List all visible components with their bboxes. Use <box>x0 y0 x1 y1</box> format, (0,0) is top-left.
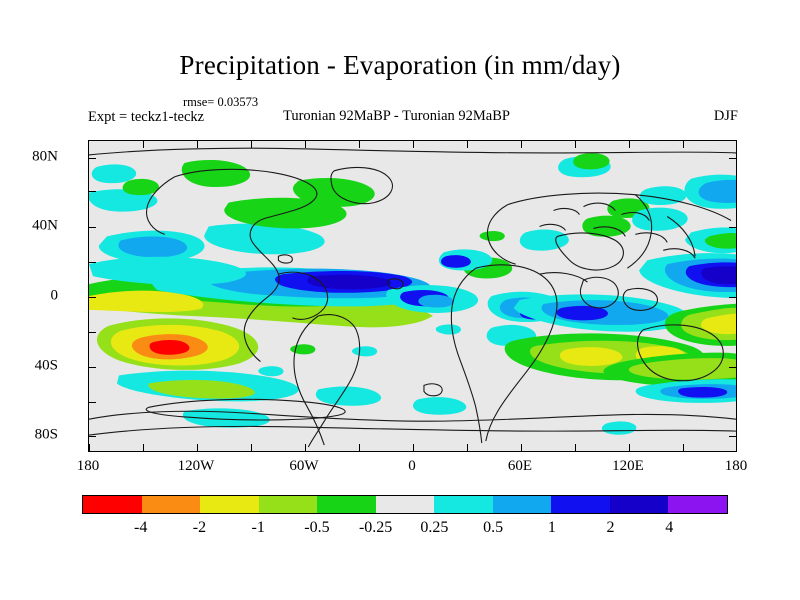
y-axis-label-80s: 80S <box>0 427 58 444</box>
axis-tick-bottom <box>521 444 522 451</box>
x-axis-label-0: 0 <box>372 458 452 475</box>
axis-tick-left <box>89 191 96 192</box>
y-axis-label-0: 0 <box>0 288 58 305</box>
colorbar-tick-8: 2 <box>581 519 641 537</box>
axis-tick-left <box>89 436 96 437</box>
y-axis-label-80n: 80N <box>0 149 58 166</box>
colorbar-band-3 <box>259 496 318 513</box>
axis-tick-top <box>629 141 630 148</box>
colorbar-band-1 <box>142 496 201 513</box>
axis-tick-right <box>729 227 736 228</box>
colorbar-band-9 <box>610 496 669 513</box>
axis-tick-bottom <box>736 444 737 451</box>
colorbar-tick-6: 0.5 <box>463 519 523 537</box>
colorbar-band-8 <box>551 496 610 513</box>
experiment-label: Expt = teckz1-teckz <box>88 109 204 126</box>
page-title: Precipitation - Evaporation (in mm/day) <box>0 50 800 81</box>
axis-tick-bottom <box>629 444 630 451</box>
axis-tick-right <box>729 297 736 298</box>
comparison-label: Turonian 92MaBP - Turonian 92MaBP <box>283 108 510 125</box>
colorbar-band-0 <box>83 496 142 513</box>
axis-tick-bottom <box>143 444 144 451</box>
axis-tick-left <box>89 227 96 228</box>
axis-tick-left <box>89 158 96 159</box>
axis-tick-left <box>89 402 96 403</box>
x-axis-label-120w: 120W <box>156 458 236 475</box>
colorbar-tick-5: 0.25 <box>404 519 464 537</box>
colorbar-tick-1: -2 <box>169 519 229 537</box>
y-axis-label-40n: 40N <box>0 218 58 235</box>
colorbar <box>82 495 728 514</box>
colorbar-band-6 <box>434 496 493 513</box>
axis-tick-bottom <box>683 444 684 451</box>
axis-tick-bottom <box>251 444 252 451</box>
axis-tick-bottom <box>197 444 198 451</box>
colorbar-band-7 <box>493 496 552 513</box>
x-axis-label-60w: 60W <box>264 458 344 475</box>
colorbar-tick-7: 1 <box>522 519 582 537</box>
axis-tick-top <box>143 141 144 148</box>
colorbar-band-2 <box>200 496 259 513</box>
colorbar-band-5 <box>376 496 435 513</box>
axis-tick-top <box>575 141 576 148</box>
axis-tick-top <box>683 141 684 148</box>
axis-tick-top <box>521 141 522 148</box>
colorbar-tick-3: -0.5 <box>287 519 347 537</box>
axis-tick-right <box>729 436 736 437</box>
axis-tick-bottom <box>575 444 576 451</box>
axis-tick-left <box>89 332 96 333</box>
colorbar-tick-9: 4 <box>639 519 699 537</box>
y-axis-label-40s: 40S <box>0 358 58 375</box>
axis-tick-top <box>197 141 198 148</box>
climate-anomaly-figure: Precipitation - Evaporation (in mm/day) … <box>0 0 800 600</box>
colorbar-band-10 <box>668 496 727 513</box>
axis-tick-bottom <box>305 444 306 451</box>
colorbar-tick-0: -4 <box>111 519 171 537</box>
x-axis-label-60e: 60E <box>480 458 560 475</box>
axis-tick-bottom <box>359 444 360 451</box>
axis-tick-top <box>413 141 414 148</box>
season-label: DJF <box>714 108 738 125</box>
axis-tick-bottom <box>467 444 468 451</box>
axis-tick-left <box>89 262 96 263</box>
axis-tick-bottom <box>89 444 90 451</box>
colorbar-tick-4: -0.25 <box>346 519 406 537</box>
axis-tick-left <box>89 367 96 368</box>
colorbar-band-4 <box>317 496 376 513</box>
x-axis-label-180w: 180 <box>48 458 128 475</box>
rmse-label: rmse= 0.03573 <box>183 95 258 110</box>
axis-tick-top <box>251 141 252 148</box>
axis-tick-bottom <box>413 444 414 451</box>
anomaly-field <box>89 141 736 451</box>
axis-tick-top <box>305 141 306 148</box>
axis-tick-right <box>729 367 736 368</box>
axis-tick-top <box>467 141 468 148</box>
axis-tick-right <box>729 158 736 159</box>
axis-tick-left <box>89 297 96 298</box>
colorbar-tick-2: -1 <box>228 519 288 537</box>
axis-tick-top <box>359 141 360 148</box>
x-axis-label-180e: 180 <box>696 458 776 475</box>
x-axis-label-120e: 120E <box>588 458 668 475</box>
subtitle-row: Expt = teckz1-teckz rmse= 0.03573 Turoni… <box>88 106 738 126</box>
map-plot-area <box>88 140 737 452</box>
